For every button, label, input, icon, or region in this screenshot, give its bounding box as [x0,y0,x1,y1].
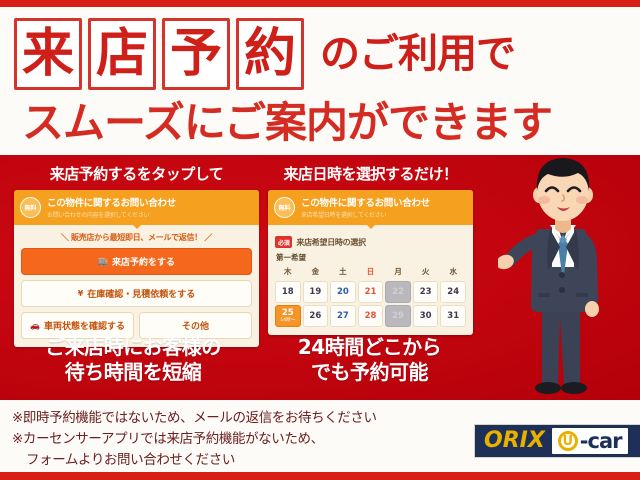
required-badge: 必須 [275,236,292,248]
calendar-day-21[interactable]: 21 [358,281,384,303]
calendar-day-20[interactable]: 20 [330,281,356,303]
ucar-wordmark: -car [580,431,622,452]
calendar-day-number: 30 [420,311,432,321]
calendar-day-24[interactable]: 24 [440,281,466,303]
car-icon: 🚗 [30,322,40,330]
stock-quote-label: 在庫確認・見積依頼をする [87,287,195,300]
kanji-box-1: 来 [14,18,82,90]
calendar-day-time: 14時～ [280,319,295,324]
calendar-day-31[interactable]: 31 [440,305,466,327]
note-line-3: フォームよりお問い合わせください [12,450,462,471]
ucar-badge: U -car [552,428,628,454]
caption-left: ご来店時にお客様の 待ち時間を短縮 [8,335,258,385]
kanji-box-3: 予 [162,18,230,90]
kanji-box-2: 店 [88,18,156,90]
calendar-dow-火: 火 [413,266,439,279]
kanji-4: 約 [244,28,296,80]
calendar-day-25[interactable]: 2514時～ [275,305,301,327]
kanji-3: 予 [170,28,222,80]
calendar-day-28[interactable]: 28 [358,305,384,327]
inquiry-form-mockup: 無料 この物件に関するお問い合わせ お問い合わせの内容を選択してください ＼ 販… [14,190,259,347]
caption-left-line1: ご来店時にお客様の [8,335,258,360]
book-visit-label: 来店予約をする [112,255,175,268]
header-notch [14,225,259,230]
calendar-dow-金: 金 [303,266,329,279]
calendar-day-number: 25 [282,308,294,318]
calendar-day-19[interactable]: 19 [303,281,329,303]
calendar-day-number: 26 [309,311,321,321]
feature-column-left: 来店予約するをタップして 無料 この物件に関するお問い合わせ お問い合わせの内容… [14,163,259,347]
calendar-day-number: 23 [420,287,432,297]
calendar-day-29: 29 [385,305,411,327]
inquiry-button-list: 🏬 来店予約をする ¥ 在庫確認・見積依頼をする 🚗 車両状態を確認する [14,248,259,347]
advert-banner: 来 店 予 約 のご利用で スムーズにご案内ができます 来店予約するをタップして… [0,0,640,480]
calendar-form-mockup: 無料 この物件に関するお問い合わせ 来店希望日時を選択してください 必須 来店希… [268,190,473,335]
headline-tail: のご利用で [320,34,515,74]
calendar-day-number: 27 [337,311,349,321]
calendar-form-header: 無料 この物件に関するお問い合わせ 来店希望日時を選択してください [268,190,473,225]
top-accent-bar [0,0,640,7]
calendar-dow-日: 日 [358,266,384,279]
orix-wordmark: ORIX [475,430,552,452]
caption-right-line2: でも予約可能 [262,360,477,385]
disclaimer-notes: ※即時予約機能ではないため、メールの返信をお待ちください ※カーセンサーアプリで… [12,408,462,471]
header-notch-calendar [268,225,473,230]
yen-icon: ¥ [78,290,84,298]
free-badge-calendar: 無料 [274,197,295,218]
calendar-day-number: 24 [447,287,459,297]
calendar-day-26[interactable]: 26 [303,305,329,327]
kanji-1: 来 [22,28,74,80]
calendar-form-subtitle: 来店希望日時を選択してください [301,210,467,219]
calendar-dow-月: 月 [385,266,411,279]
vehicle-condition-label: 車両状態を確認する [44,319,125,332]
calendar-day-number: 31 [447,311,459,321]
kanji-box-4: 約 [236,18,304,90]
orix-ucar-logo: ORIX U -car [474,424,640,458]
inquiry-form-header: 無料 この物件に関するお問い合わせ お問い合わせの内容を選択してください [14,190,259,225]
calendar-day-number: 20 [337,287,349,297]
calendar-day-number: 28 [365,311,377,321]
note-line-2: ※カーセンサーアプリでは来店予約機能がないため、 [12,429,462,450]
feature-panel: 来店予約するをタップして 無料 この物件に関するお問い合わせ お問い合わせの内容… [0,155,640,400]
ucar-u-icon: U [558,431,578,451]
calendar-day-27[interactable]: 27 [330,305,356,327]
calendar-dow-水: 水 [440,266,466,279]
calendar-day-number: 18 [282,287,294,297]
inquiry-form-title: この物件に関するお問い合わせ [47,195,253,209]
left-column-title: 来店予約するをタップして [14,163,259,184]
calendar-form-title: この物件に関するお問い合わせ [301,195,467,209]
stock-quote-button[interactable]: ¥ 在庫確認・見積依頼をする [21,280,252,307]
bottom-accent-bar [0,472,640,480]
calendar-day-18[interactable]: 18 [275,281,301,303]
store-icon: 🏬 [98,258,108,266]
headline-line2: スムーズにご案内ができます [22,102,552,144]
book-visit-button[interactable]: 🏬 来店予約をする [21,248,252,275]
calendar-day-30[interactable]: 30 [413,305,439,327]
calendar-day-number: 19 [309,287,321,297]
calendar-dow-木: 木 [275,266,301,279]
free-badge: 無料 [20,197,41,218]
caption-left-line2: 待ち時間を短縮 [8,360,258,385]
right-column-title: 来店日時を選択するだけ！ [268,163,473,184]
inquiry-lead-text: ＼ 販売店から最短即日、メールで返信！ ／ [14,230,259,248]
calendar-dow-土: 土 [330,266,356,279]
note-line-1: ※即時予約機能ではないため、メールの返信をお待ちください [12,408,462,429]
kanji-2: 店 [96,28,148,80]
calendar-day-23[interactable]: 23 [413,281,439,303]
calendar-grid[interactable]: 木金土日月火水181920212223242514時～262728293031 [275,266,466,327]
headline-line1: 来 店 予 約 のご利用で [14,18,515,90]
other-label: その他 [182,319,209,332]
calendar-field-label: 来店希望日時の選択 [296,237,365,248]
salesman-illustration [498,155,628,400]
calendar-day-number: 22 [392,287,404,297]
calendar-day-22: 22 [385,281,411,303]
feature-column-right: 来店日時を選択するだけ！ 無料 この物件に関するお問い合わせ 来店希望日時を選択… [268,163,473,335]
caption-right-line1: 24時間どこから [262,335,477,360]
calendar-day-number: 21 [365,287,377,297]
preference-label: 第一希望 [276,252,466,263]
caption-right: 24時間どこから でも予約可能 [262,335,477,385]
calendar-day-number: 29 [392,311,404,321]
calendar-body: 必須 来店希望日時の選択 第一希望 木金土日月火水181920212223242… [268,230,473,335]
headline-block: 来 店 予 約 のご利用で スムーズにご案内ができます [0,10,640,155]
inquiry-form-subtitle: お問い合わせの内容を選択してください [47,210,253,219]
